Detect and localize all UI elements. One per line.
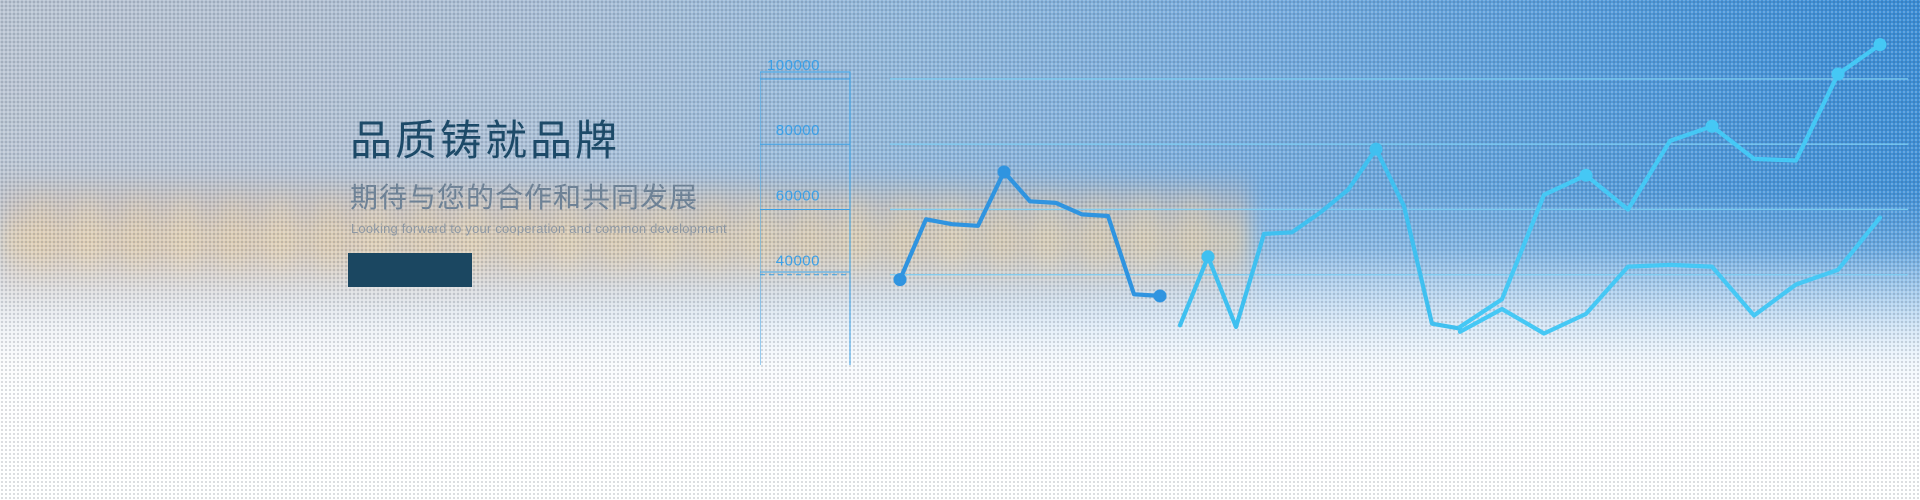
axis-highlight-rectangle bbox=[760, 72, 850, 272]
line-chart-svg: 100000800006000040000 bbox=[760, 0, 1920, 500]
chart-data-point-marker bbox=[1706, 120, 1719, 133]
banner-cta-button[interactable] bbox=[348, 253, 472, 287]
chart-data-point-marker bbox=[1580, 169, 1593, 182]
y-axis-tick-label: 60000 bbox=[776, 187, 820, 204]
y-axis-tick-label: 100000 bbox=[767, 57, 820, 74]
chart-data-point-marker bbox=[1832, 68, 1845, 81]
chart-data-point-marker bbox=[1202, 250, 1215, 263]
chart-data-point-marker bbox=[998, 165, 1011, 178]
chart-data-point-marker bbox=[1370, 143, 1383, 156]
chart-line-series-4 bbox=[1460, 218, 1880, 334]
chart-line-series-1 bbox=[900, 172, 1160, 296]
chart-line-series-2 bbox=[1180, 149, 1460, 329]
chart-data-point-marker bbox=[1154, 289, 1167, 302]
chart-line-series-3 bbox=[1460, 45, 1880, 327]
hero-banner: 品质铸就品牌 期待与您的合作和共同发展 Looking forward to y… bbox=[0, 0, 1920, 500]
y-axis-tick-label: 40000 bbox=[776, 253, 820, 270]
line-chart: 100000800006000040000 bbox=[760, 0, 1920, 500]
chart-data-point-marker bbox=[1874, 38, 1887, 51]
y-axis-tick-label: 80000 bbox=[776, 122, 820, 139]
chart-data-point-marker bbox=[894, 273, 907, 286]
